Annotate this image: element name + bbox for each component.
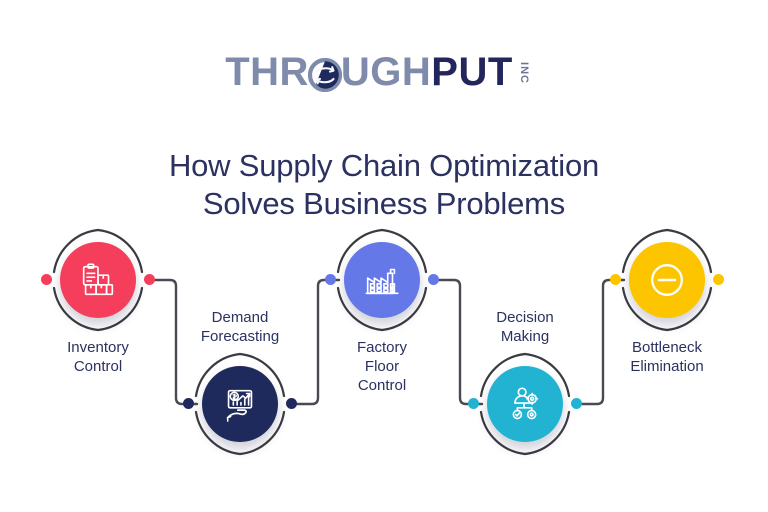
node-connector-dot-left [468,398,479,409]
node-label-line-1: Inventory [67,339,129,356]
node-disc [60,242,136,318]
node-disc [629,242,705,318]
node-label-line-3: Control [358,377,406,394]
node-disc [202,366,278,442]
node-label-line-2: Elimination [630,358,703,375]
node-connector-dot-right [713,274,724,285]
flow-node-inventory-control[interactable]: Inventory Control [46,228,150,332]
node-connector-dot-left [325,274,336,285]
node-connector-dot-right [571,398,582,409]
flow-node-factory-floor-control[interactable]: Factory Floor Control [330,228,434,332]
node-connector-dot-right [286,398,297,409]
node-connector-dot-right [428,274,439,285]
node-disc [344,242,420,318]
factory-icon [361,259,403,301]
node-connector-dot-left [610,274,621,285]
node-label-line-2: Making [501,328,549,345]
node-connector-dot-left [41,274,52,285]
minus-circle-icon [646,259,688,301]
node-label-line-1: Bottleneck [632,339,702,356]
node-connector-dot-left [183,398,194,409]
hand-chart-dollar-icon [219,383,261,425]
flow-node-label-bottleneck-elimination: Bottleneck Elimination [582,338,752,376]
node-label-line-2: Floor [365,358,399,375]
flow-node-bottleneck-elimination[interactable]: Bottleneck Elimination [615,228,719,332]
node-label-line-2: Forecasting [201,328,279,345]
flow-node-demand-forecasting[interactable]: Demand Forecasting [188,352,292,456]
process-flow-diagram: Inventory Control [0,0,768,512]
flow-node-decision-making[interactable]: Decision Making [473,352,577,456]
node-label-line-1: Demand [212,309,269,326]
infographic-canvas: THR UGH PUT INC How Supply Chain Optimiz… [0,0,768,512]
flow-node-label-factory-floor-control: Factory Floor Control [297,338,467,395]
clipboard-boxes-icon [77,259,119,301]
node-label-line-1: Factory [357,339,407,356]
node-disc [487,366,563,442]
node-connector-dot-right [144,274,155,285]
decision-tree-person-icon [504,383,546,425]
node-label-line-1: Decision [496,309,554,326]
node-label-line-2: Control [74,358,122,375]
